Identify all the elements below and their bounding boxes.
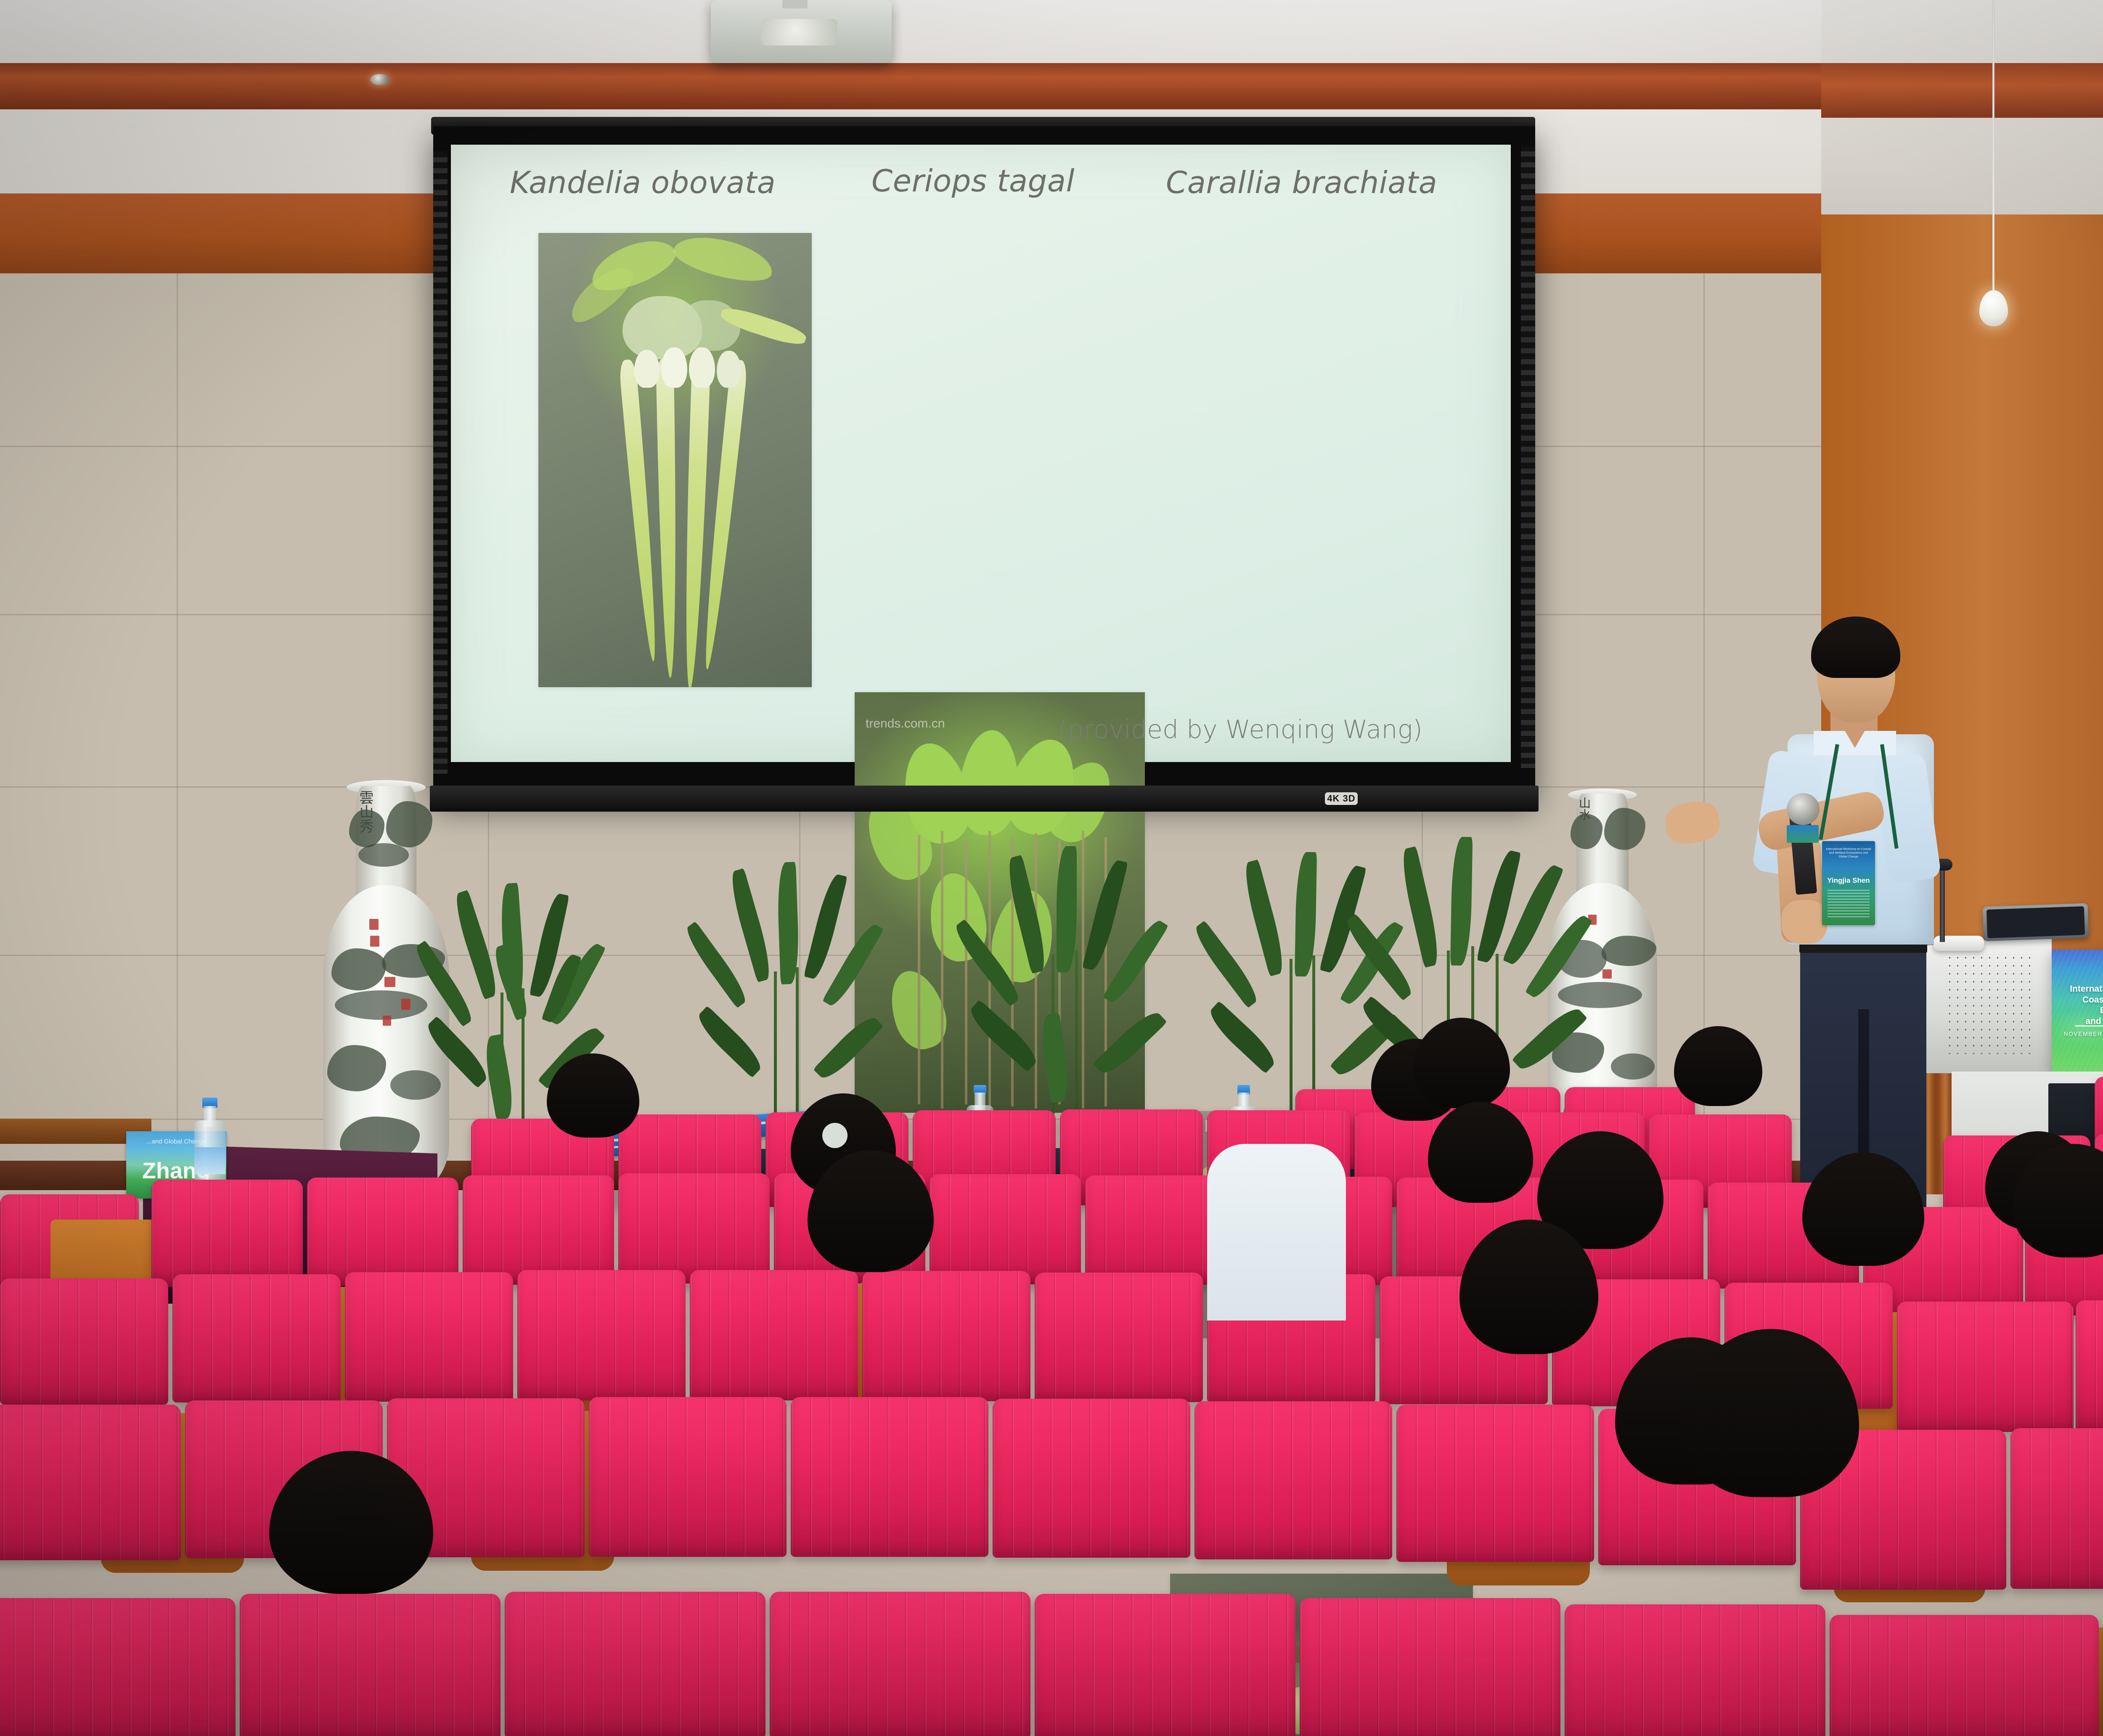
seat (0, 1405, 181, 1560)
seat (2010, 1428, 2103, 1589)
downlight-icon (370, 74, 389, 85)
seat (307, 1178, 458, 1286)
seat (345, 1272, 513, 1402)
seat (505, 1592, 765, 1736)
seat (1830, 1615, 2099, 1736)
slide-surface: Kandelia obovata Ceriops tagal Carallia … (451, 145, 1511, 762)
slide-credit: (provided by Wenqing Wang) (1058, 715, 1422, 744)
seat (1565, 1604, 1825, 1736)
ceiling-projector (711, 0, 892, 63)
seat (1897, 1302, 2074, 1432)
seat (2076, 1300, 2103, 1432)
pendant-light-cord (1992, 0, 1994, 294)
seat (172, 1274, 341, 1403)
seat (690, 1270, 858, 1400)
banner-title-line-2: Coastal and Wetland Ecosystems (2058, 995, 2103, 1016)
ceiling-surface (0, 0, 2103, 63)
seat (930, 1174, 1081, 1284)
podium-perforation-pattern (1946, 954, 2031, 1054)
seat (1396, 1405, 1594, 1562)
seat (862, 1271, 1030, 1401)
banner-divider (2075, 1025, 2103, 1027)
bottle-label (194, 1147, 225, 1174)
auditorium-scene: EV Kandelia obovata Ceriops tagal Carall… (0, 0, 2103, 1736)
seat (993, 1399, 1190, 1558)
tile-grout-line (177, 273, 178, 1178)
ceiling-cornice-band-right (1821, 63, 2103, 118)
microphone-flag (1787, 825, 1819, 843)
projection-screen: Kandelia obovata Ceriops tagal Carallia … (433, 126, 1535, 799)
microphone-head (1787, 793, 1820, 825)
badge-detail-lines (1828, 890, 1870, 918)
seat (618, 1173, 770, 1283)
podium-banner: International Workshop on Coastal and We… (2052, 950, 2103, 1076)
slide-title-column-3: Carallia brachiata (1166, 165, 1437, 200)
seat (463, 1175, 614, 1285)
tablet-screen (1986, 906, 2085, 938)
screen-bottom-bar: 4K 3D (430, 786, 1539, 812)
badge-name: Yingjia Shen (1822, 876, 1875, 885)
seat (1195, 1401, 1392, 1559)
screen-right-edge (1521, 146, 1535, 768)
podium-mic-stand (1940, 866, 1945, 942)
speaker-left-hand (1782, 900, 1827, 944)
screen-left-edge (433, 151, 448, 774)
podium-tablet (1983, 903, 2089, 942)
audience-head (822, 1123, 848, 1148)
seat (589, 1397, 787, 1557)
projector-mount (782, 0, 808, 8)
seat (0, 1598, 236, 1736)
ceiling-right-panel (1821, 118, 2103, 214)
seat (1300, 1598, 1560, 1736)
seat (240, 1594, 501, 1736)
seat (770, 1592, 1030, 1736)
seat (517, 1270, 686, 1400)
speaker-badge: International Workshop on Coastal and We… (1822, 841, 1875, 925)
badge-header: International Workshop on Coastal and We… (1825, 848, 1872, 859)
slide-photo-kandelia-obovata (538, 233, 812, 687)
audience-shoulders (1207, 1144, 1346, 1321)
screen-brand-badge: 4K 3D (1325, 792, 1358, 805)
seat (1035, 1594, 1295, 1736)
projector-lens (761, 19, 837, 45)
slide-title-column-1: Kandelia obovata (510, 165, 776, 200)
podium-left-wing (1926, 934, 2052, 1073)
seat (151, 1180, 303, 1287)
seat (791, 1397, 988, 1557)
slide-title-column-2: Ceriops tagal (871, 163, 1075, 198)
slide-photo-watermark: trends.com.cn (866, 717, 945, 731)
ceiling-cornice-band (0, 63, 2103, 109)
ceiling-right-surface (1821, 0, 2103, 64)
banner-title-line-1: International Workshop on (2058, 984, 2103, 995)
banner-subtitle: NOVEMBER 9, 2024 | XIAMEN, CHINA (2058, 1030, 2103, 1037)
banner-title: International Workshop on Coastal and We… (2058, 984, 2103, 1027)
seat (1035, 1273, 1203, 1402)
